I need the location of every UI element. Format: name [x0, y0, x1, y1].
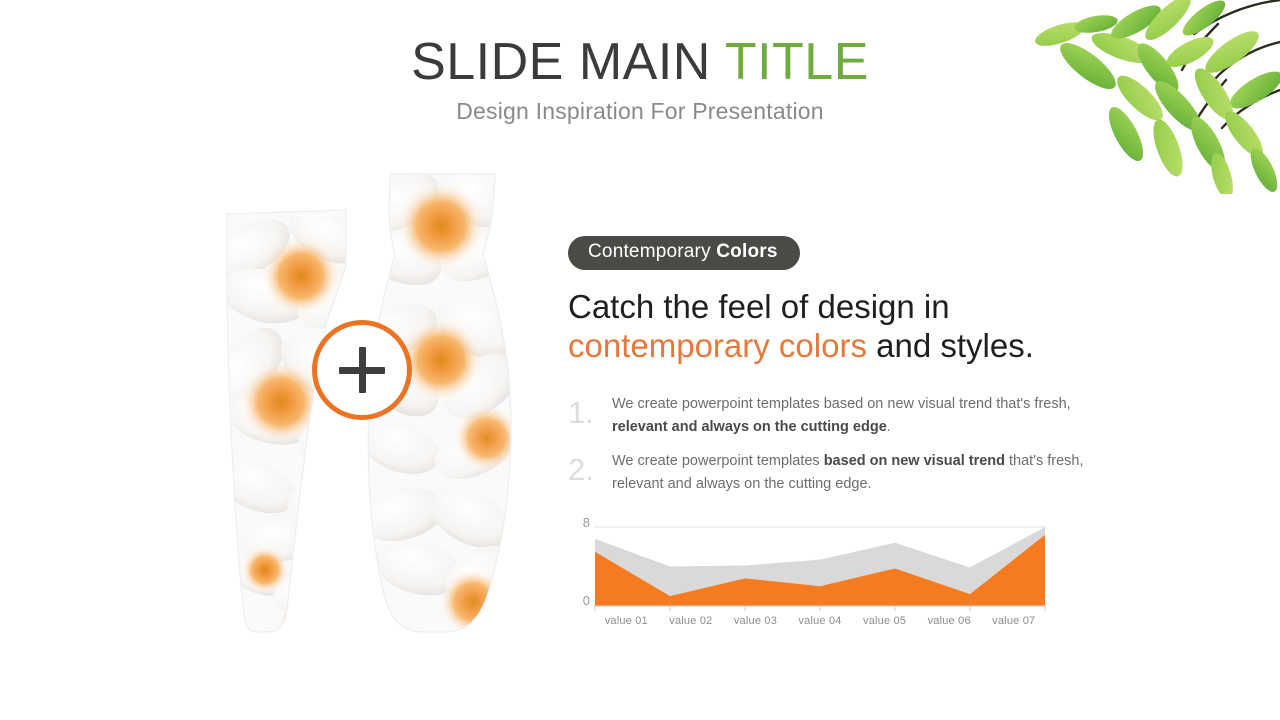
list-item-number: 1.: [568, 393, 612, 428]
headline-tail: and styles.: [867, 327, 1034, 364]
chart-category-label: value 03: [723, 615, 788, 627]
section-badge-light: Contemporary: [588, 241, 716, 262]
plus-icon-vertical: [359, 347, 366, 393]
content-column: Contemporary Colors Catch the feel of de…: [568, 236, 1128, 635]
headline: Catch the feel of design in contemporary…: [568, 288, 1128, 365]
list-item-text: We create powerpoint templates based on …: [612, 450, 1108, 495]
add-image-button[interactable]: [312, 320, 412, 420]
leaves-icon: [1018, 0, 1280, 194]
list-item: 1. We create powerpoint templates based …: [568, 393, 1108, 438]
slide-canvas: SLIDE MAIN TITLE Design Inspiration For …: [0, 0, 1280, 720]
list-item-text-post: .: [887, 419, 891, 435]
list-item-text-pre: We create powerpoint templates based on …: [612, 396, 1071, 412]
numbered-list: 1. We create powerpoint templates based …: [568, 393, 1108, 495]
chart-category-label: value 01: [594, 615, 659, 627]
image-placeholder-group: [205, 170, 525, 640]
list-item: 2. We create powerpoint templates based …: [568, 450, 1108, 495]
headline-accent: contemporary colors: [568, 327, 867, 364]
headline-line-1: Catch the feel of design in: [568, 288, 950, 325]
chart-category-label: value 05: [852, 615, 917, 627]
chart-category-axis: value 01value 02value 03value 04value 05…: [594, 615, 1046, 627]
list-item-number: 2.: [568, 450, 612, 485]
page-title-accent: TITLE: [725, 33, 869, 91]
chart-category-label: value 07: [981, 615, 1046, 627]
leaves-decoration: [1018, 0, 1280, 194]
list-item-text-pre: We create powerpoint templates: [612, 453, 824, 469]
title-block: SLIDE MAIN TITLE Design Inspiration For …: [0, 36, 1280, 125]
section-badge: Contemporary Colors: [568, 236, 800, 270]
chart-ytick-top: 8: [568, 515, 590, 530]
list-item-text-bold: relevant and always on the cutting edge: [612, 419, 887, 435]
chart-category-label: value 02: [659, 615, 724, 627]
chart-plot-area: [594, 522, 1046, 614]
chart-category-label: value 04: [788, 615, 853, 627]
page-subtitle: Design Inspiration For Presentation: [0, 98, 1280, 125]
area-chart: 8 0 value 01value 02value 03value 04valu…: [568, 517, 1068, 635]
page-title-main: SLIDE MAIN: [411, 33, 725, 91]
list-item-text-bold: based on new visual trend: [824, 453, 1005, 469]
page-title: SLIDE MAIN TITLE: [0, 36, 1280, 88]
chart-category-label: value 06: [917, 615, 982, 627]
chart-ytick-bottom: 0: [568, 593, 590, 608]
list-item-text: We create powerpoint templates based on …: [612, 393, 1108, 438]
section-badge-bold: Colors: [716, 241, 777, 262]
